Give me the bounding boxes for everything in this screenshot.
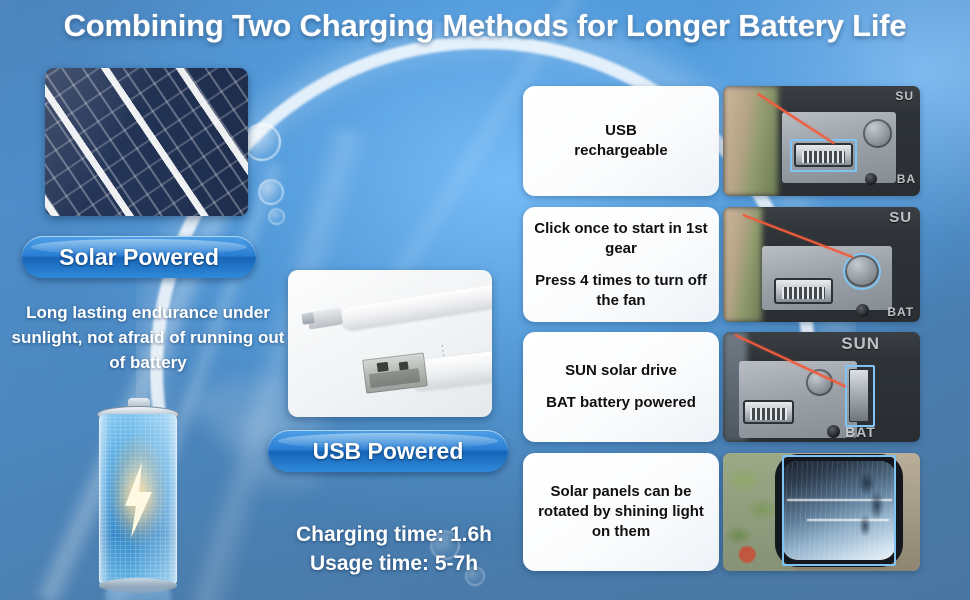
feature-card: USB rechargeable <box>523 86 719 196</box>
feature-text: Click once to start in 1st gear <box>531 219 711 259</box>
sun-label: SU <box>889 209 912 226</box>
page-title: Combining Two Charging Methods for Longe… <box>0 8 970 44</box>
usage-time-text: Usage time: 5-7h <box>258 549 530 578</box>
lightning-bolt-icon <box>119 462 157 538</box>
usb-pin <box>377 362 389 372</box>
highlight-box <box>790 139 857 172</box>
feature-photo-usb-port: SU BA <box>723 86 920 196</box>
usb-powered-badge: USB Powered <box>268 430 508 472</box>
usb-pin <box>399 361 409 370</box>
outdoor-scene <box>723 453 920 571</box>
micro-usb-port <box>743 400 794 424</box>
usb-powered-badge-label: USB Powered <box>313 438 464 465</box>
bubble-icon <box>258 179 284 205</box>
charging-time-text: Charging time: 1.6h <box>258 520 530 549</box>
bubble-icon <box>243 123 281 161</box>
solar-powered-badge-label: Solar Powered <box>59 244 219 271</box>
highlight-box <box>843 253 880 290</box>
solar-description: Long lasting endurance under sunlight, n… <box>8 300 288 375</box>
bat-indicator <box>865 173 877 185</box>
feature-card: Solar panels can be rotated by shining l… <box>523 453 719 571</box>
feature-photo-power-button: SU BAT <box>723 207 920 322</box>
glare-overlay <box>45 68 248 216</box>
device-closeup: SUN BAT <box>723 332 920 442</box>
device-closeup: SU BA <box>723 86 920 196</box>
highlight-box <box>782 455 896 566</box>
feature-card: Click once to start in 1st gear Press 4 … <box>523 207 719 322</box>
time-specs: Charging time: 1.6h Usage time: 5-7h <box>258 520 530 578</box>
highlight-box <box>845 365 875 427</box>
battery-reflection <box>105 588 171 600</box>
usb-trident-icon: ⋮ <box>435 341 451 360</box>
battery-illustration <box>95 398 181 600</box>
usb-cable-image: ⋮ <box>288 270 492 417</box>
feature-text: USB rechargeable <box>574 121 667 161</box>
background-blur <box>723 207 762 322</box>
bat-label: BA <box>897 172 916 186</box>
device-closeup: SU BAT <box>723 207 920 322</box>
bat-indicator <box>827 425 840 438</box>
feature-photo-sun-bat-switch: SUN BAT <box>723 332 920 442</box>
sun-label: SU <box>895 89 914 103</box>
bat-indicator <box>856 304 869 317</box>
solar-panel-image <box>45 68 248 216</box>
bubble-icon <box>268 208 285 225</box>
device-plate <box>739 361 857 438</box>
battery-body <box>99 414 177 586</box>
infographic-canvas: Combining Two Charging Methods for Longe… <box>0 0 970 600</box>
micro-usb-tip <box>301 312 315 325</box>
micro-usb-port <box>774 278 833 303</box>
feature-text: Press 4 times to turn off the fan <box>531 271 711 311</box>
feature-card: SUN solar drive BAT battery powered <box>523 332 719 442</box>
power-button <box>863 119 893 148</box>
feature-text: BAT battery powered <box>546 393 696 413</box>
feature-text: SUN solar drive <box>565 361 677 381</box>
feature-text: Solar panels can be rotated by shining l… <box>531 482 711 542</box>
feature-photo-rotatable-panel <box>723 453 920 571</box>
bat-label: BAT <box>887 305 914 319</box>
cable-segment <box>339 279 492 331</box>
solar-powered-badge: Solar Powered <box>22 236 256 278</box>
sun-label: SUN <box>841 334 880 354</box>
